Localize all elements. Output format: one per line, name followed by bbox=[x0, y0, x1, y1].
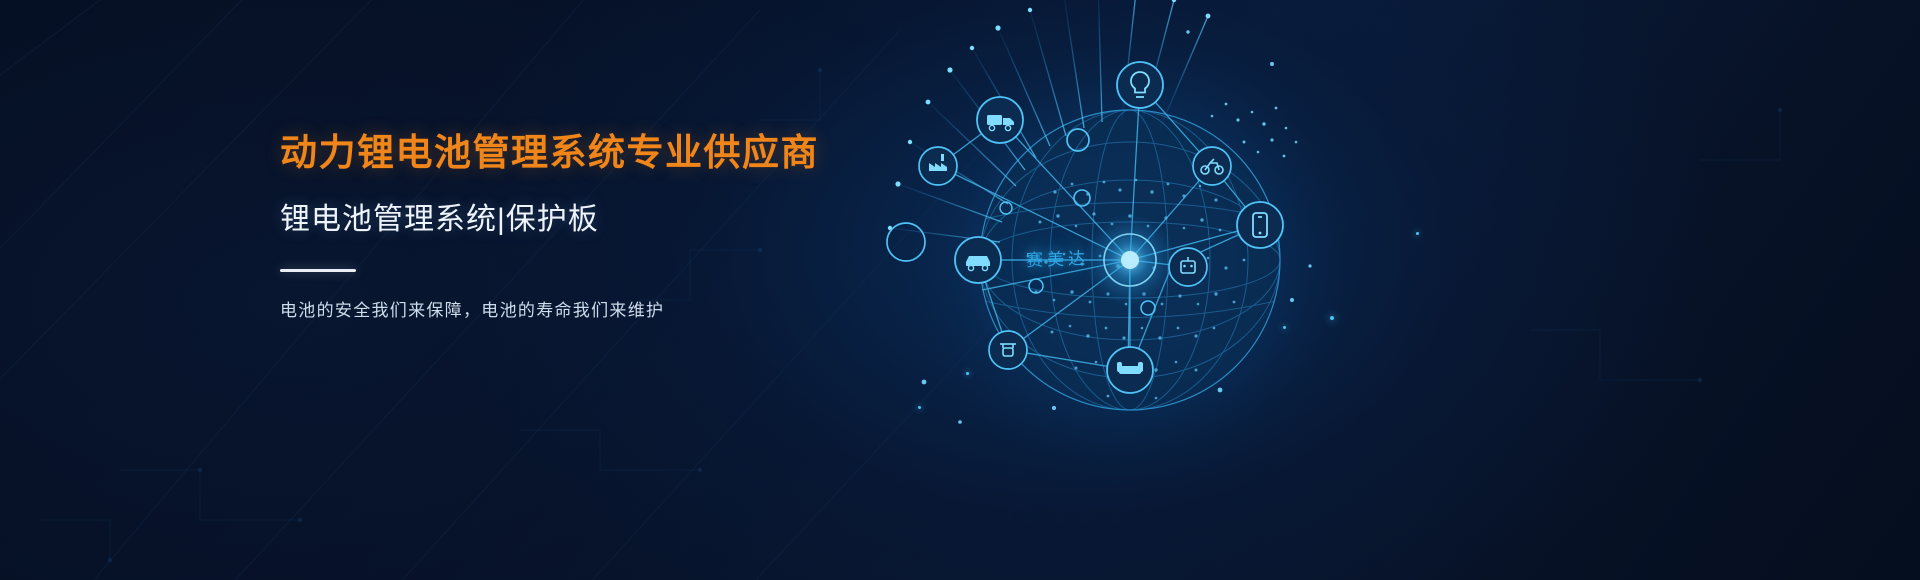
banner-copy: 动力锂电池管理系统专业供应商 锂电池管理系统|保护板 电池的安全我们来保障，电池… bbox=[280, 130, 920, 324]
globe-brand-text: 赛美达 bbox=[1026, 244, 1090, 271]
sparkle-5 bbox=[966, 372, 969, 375]
node-smartphone bbox=[1237, 202, 1283, 248]
sparkle-2 bbox=[1283, 326, 1286, 329]
node-lightbulb bbox=[1117, 62, 1163, 108]
node-robot bbox=[1169, 248, 1207, 286]
banner-subline: 锂电池管理系统|保护板 bbox=[280, 200, 920, 239]
node-motorcycle bbox=[1193, 147, 1231, 185]
decorative-divider bbox=[280, 269, 356, 272]
node-factory bbox=[919, 147, 957, 185]
node-car bbox=[955, 237, 1001, 283]
sparkle-3 bbox=[918, 406, 921, 409]
hero-banner: 动力锂电池管理系统专业供应商 锂电池管理系统|保护板 电池的安全我们来保障，电池… bbox=[0, 0, 1920, 580]
sparkle-1 bbox=[1330, 316, 1334, 320]
banner-headline: 动力锂电池管理系统专业供应商 bbox=[280, 130, 920, 176]
globe-svg bbox=[840, 0, 1460, 580]
node-truck bbox=[977, 97, 1023, 143]
node-drone bbox=[989, 331, 1027, 369]
banner-tagline: 电池的安全我们来保障，电池的寿命我们来维护 bbox=[280, 298, 920, 324]
iot-globe-graphic: 赛美达 bbox=[840, 0, 1460, 580]
node-sofa bbox=[1107, 347, 1153, 393]
sparkle-4 bbox=[1416, 232, 1419, 235]
